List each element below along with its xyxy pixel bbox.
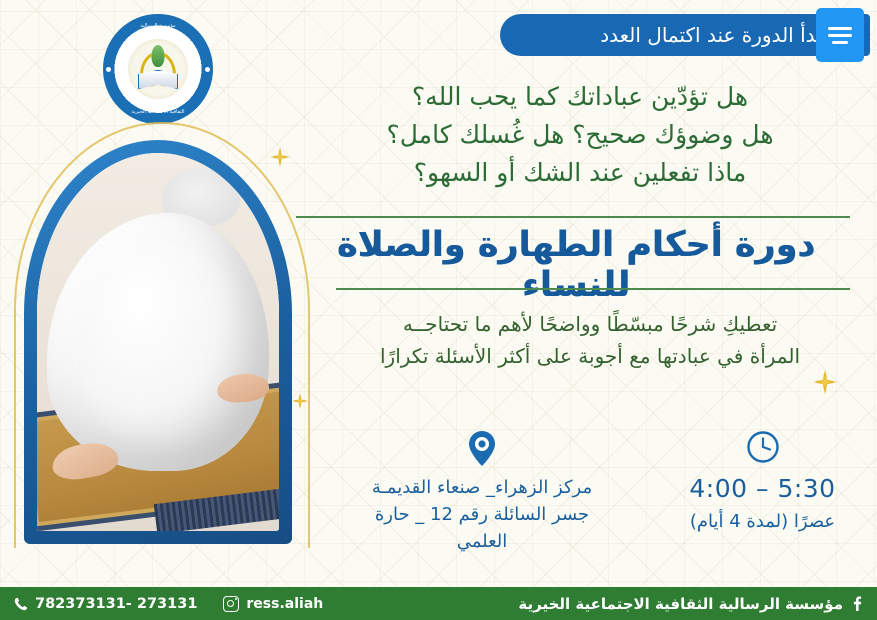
course-description: تعطيكِ شرحًا مبسّطًا وواضحًا لأهم ما تحت… — [330, 308, 850, 373]
footer-instagram[interactable]: ress.aliah — [223, 596, 323, 612]
location-line-2: جسر السائلة رقم 12 _ حارة العلمي — [352, 501, 612, 555]
time-range: 4:00 – 5:30 — [655, 470, 870, 508]
location-info: مركز الزهراء_ صنعاء القديمـة جسر السائلة… — [352, 430, 612, 555]
title-divider-bottom — [336, 288, 850, 290]
question-line-1: هل تؤدّين عباداتك كما يحب الله؟ — [300, 78, 860, 116]
footer-phone[interactable]: 782373131- 273131 — [14, 596, 197, 612]
logo-ring-text-top: مؤسسة الرسالية — [103, 23, 213, 29]
logo-emblem — [128, 39, 188, 99]
course-title: دورة أحكام الطهارة والصلاة للنساء — [300, 225, 852, 305]
location-pin-icon — [467, 430, 497, 468]
location-lines: مركز الزهراء_ صنعاء القديمـة جسر السائلة… — [352, 474, 612, 555]
menu-line-2 — [828, 34, 852, 37]
phone-icon — [14, 597, 28, 611]
footer-bar: مؤسسة الرسالية الثقافية الاجتماعية الخير… — [0, 587, 877, 620]
footer-phone-number: 782373131- 273131 — [35, 596, 197, 612]
time-lines: 4:00 – 5:30 عصرًا (لمدة 4 أيام) — [655, 470, 870, 535]
time-info: 4:00 – 5:30 عصرًا (لمدة 4 أيام) — [655, 430, 870, 535]
menu-line-3 — [832, 41, 848, 44]
location-line-1: مركز الزهراء_ صنعاء القديمـة — [352, 474, 612, 501]
ar-risaliyah-foundation-logo: مؤسسة الرسالية الثقافية الاجتماعية الخير… — [103, 14, 213, 124]
clock-icon — [746, 430, 780, 464]
logo-ring-text-bottom: الثقافية الاجتماعية الخيرية — [103, 109, 213, 115]
logo-dot-left — [106, 67, 111, 72]
title-divider-top — [296, 216, 850, 218]
course-announcement-poster: تبدأ الدورة عند اكتمال العدد مؤسسة الرسا… — [0, 0, 877, 620]
facebook-icon[interactable] — [850, 596, 863, 611]
menu-line-1 — [828, 27, 852, 30]
question-line-3: ماذا تفعلين عند الشك أو السهو؟ — [300, 154, 860, 192]
footer-instagram-handle: ress.aliah — [246, 596, 323, 612]
logo-dot-right — [205, 67, 210, 72]
question-list: هل تؤدّين عباداتك كما يحب الله؟ هل وضوؤك… — [300, 78, 860, 192]
start-notice-text: تبدأ الدورة عند اكتمال العدد — [600, 23, 828, 47]
description-line-1: تعطيكِ شرحًا مبسّطًا وواضحًا لأهم ما تحت… — [330, 308, 850, 340]
footer-organization: مؤسسة الرسالية الثقافية الاجتماعية الخير… — [518, 595, 863, 613]
hamburger-menu-icon[interactable] — [816, 8, 864, 62]
instagram-icon[interactable] — [223, 596, 239, 612]
arch-photo-mask — [37, 153, 279, 531]
time-note: عصرًا (لمدة 4 أيام) — [655, 508, 870, 535]
footer-organization-name: مؤسسة الرسالية الثقافية الاجتماعية الخير… — [518, 595, 843, 613]
question-line-2: هل وضوؤك صحيح؟ هل غُسلك كامل؟ — [300, 116, 860, 154]
description-line-2: المرأة في عبادتها مع أجوبة على أكثر الأس… — [330, 340, 850, 372]
arch-photo-frame — [24, 140, 292, 544]
prayer-photo — [37, 153, 279, 531]
start-notice-banner: تبدأ الدورة عند اكتمال العدد — [500, 14, 870, 56]
